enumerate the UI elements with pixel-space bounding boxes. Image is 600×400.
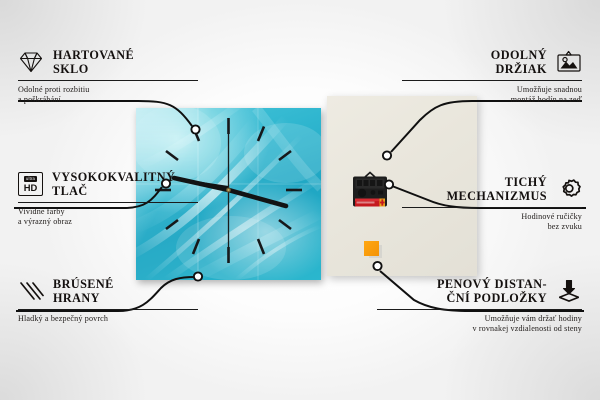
feature-header: HARTOVANÉ SKLO — [18, 48, 198, 76]
diamond-icon — [18, 50, 44, 74]
feature-title: HARTOVANÉ SKLO — [53, 48, 134, 76]
feature-header: ultra HD VYSOKOKVALITNÝ TLAČ — [18, 170, 198, 198]
foam-spacer-icon — [556, 279, 582, 303]
connector-line-4 — [391, 101, 582, 152]
feature-high-quality-print: ultra HD VYSOKOKVALITNÝ TLAČ Vivídne far… — [18, 170, 198, 228]
feature-header: PENOVÝ DISTAN- ČNÍ PODLOŽKY — [377, 277, 582, 305]
feature-desc-line1: Umožňuje snadnou — [402, 85, 582, 95]
feature-desc-line2: a poškrábání — [18, 95, 198, 105]
feature-desc-line1: Vivídne farby — [18, 207, 198, 217]
feature-desc-line2: bez zvuku — [402, 222, 582, 232]
feature-header: TICHÝ MECHANIZMUS — [402, 175, 582, 203]
feature-tempered-glass: HARTOVANÉ SKLO Odolné proti rozbitiu a p… — [18, 48, 198, 106]
feature-title: PENOVÝ DISTAN- ČNÍ PODLOŽKY — [437, 277, 547, 305]
feature-durable-hanger: ODOLNÝ DRŽIAK Umožňuje snadnou montáž ho… — [402, 48, 582, 106]
feature-desc-line2: v rovnakej vzdialenosti od steny — [377, 324, 582, 334]
connector-node-1 — [191, 125, 199, 133]
feature-foam-spacers: PENOVÝ DISTAN- ČNÍ PODLOŽKY Umožňuje vám… — [377, 277, 582, 335]
divider-rule — [18, 202, 198, 203]
feature-silent-mechanism: TICHÝ MECHANIZMUS Hodinové ručičky bez z… — [402, 175, 582, 233]
gear-icon — [556, 177, 582, 201]
divider-rule — [18, 80, 198, 81]
feature-title: ODOLNÝ DRŽIAK — [491, 48, 547, 76]
ultra-hd-icon-small-label: ultra — [24, 176, 36, 181]
connector-node-4 — [383, 151, 391, 159]
ultra-hd-icon: ultra HD — [18, 172, 43, 196]
connector-node-6 — [373, 262, 381, 270]
feature-polished-edges: BRÚSENÉ HRANY Hladký a bezpečný povrch — [18, 277, 198, 324]
feature-desc-line2: montáž hodín na zeď — [402, 95, 582, 105]
feature-desc-line2: a výrazný obraz — [18, 217, 198, 227]
divider-rule — [402, 80, 582, 81]
connector-node-5 — [385, 180, 393, 188]
feature-desc-line1: Hodinové ručičky — [402, 212, 582, 222]
feature-desc-line1: Hladký a bezpečný povrch — [18, 314, 198, 324]
feature-title: VYSOKOKVALITNÝ TLAČ — [52, 170, 175, 198]
feature-header: ODOLNÝ DRŽIAK — [402, 48, 582, 76]
feature-desc-line1: Odolné proti rozbitiu — [18, 85, 198, 95]
divider-rule — [18, 309, 198, 310]
feature-title: BRÚSENÉ HRANY — [53, 277, 114, 305]
divider-rule — [402, 207, 582, 208]
infographic-stage: HARTOVANÉ SKLO Odolné proti rozbitiu a p… — [0, 0, 600, 400]
polished-edges-icon — [18, 279, 44, 303]
feature-title: TICHÝ MECHANIZMUS — [447, 175, 547, 203]
ultra-hd-icon-big-label: HD — [24, 183, 38, 192]
feature-header: BRÚSENÉ HRANY — [18, 277, 198, 305]
picture-frame-icon — [556, 50, 582, 74]
feature-desc-line1: Umožňuje vám držať hodiny — [377, 314, 582, 324]
divider-rule — [377, 309, 582, 310]
